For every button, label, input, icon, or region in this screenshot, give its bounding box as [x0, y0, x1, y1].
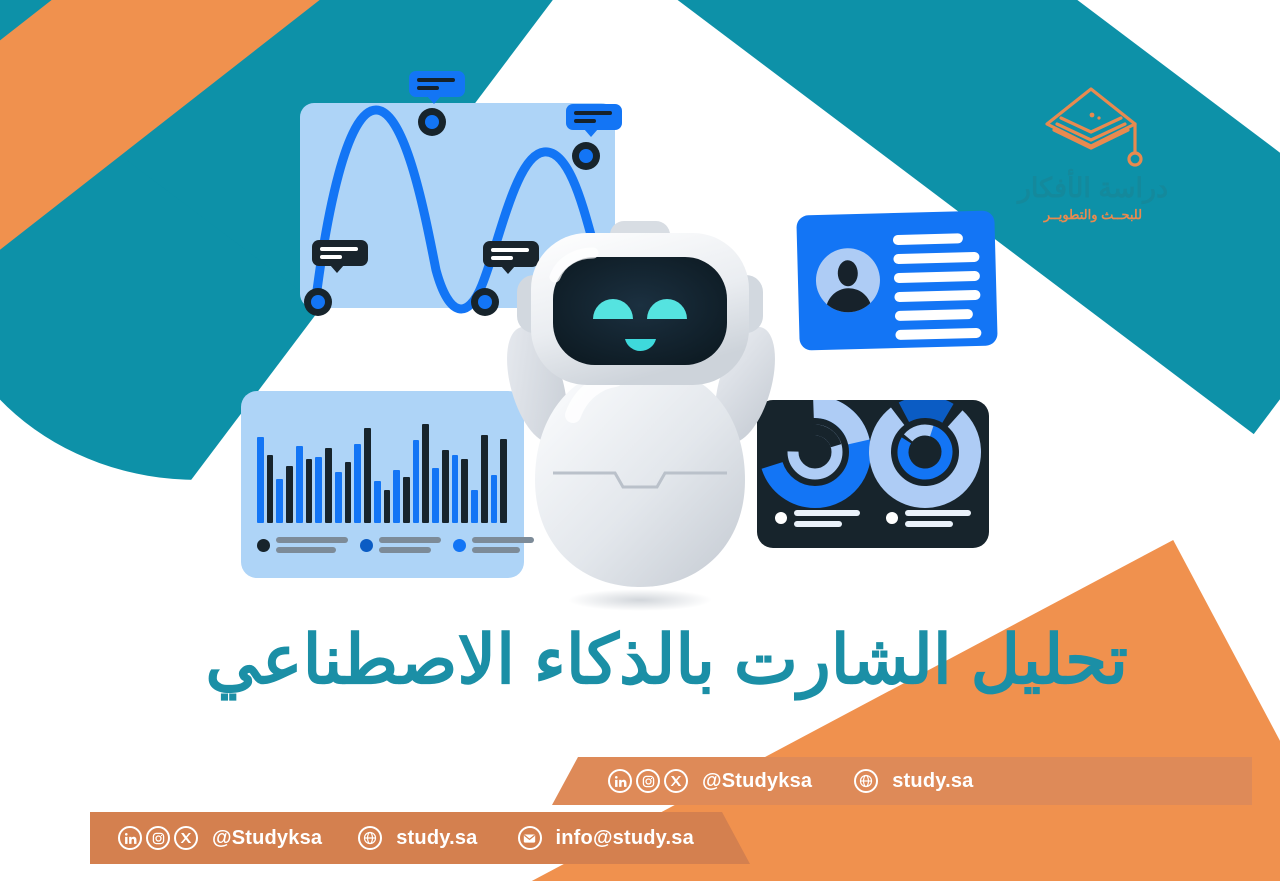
bar	[393, 470, 400, 523]
bar	[286, 466, 293, 523]
social-handle: @Studyksa	[702, 770, 812, 793]
footer-bar-bottom: @Studyksa study.sa info@study.sa	[90, 812, 750, 864]
bar	[345, 462, 352, 523]
bar	[325, 448, 332, 523]
donut-chart-legend	[775, 510, 975, 532]
bar	[267, 455, 274, 523]
instagram-icon[interactable]	[636, 769, 660, 793]
bar	[315, 457, 322, 523]
legend-item	[257, 537, 348, 557]
legend-item	[775, 510, 860, 532]
legend-item	[886, 510, 971, 532]
chart-tooltip	[409, 71, 465, 97]
bar	[384, 490, 391, 523]
bar	[364, 428, 371, 523]
email-address: info@study.sa	[556, 827, 694, 850]
social-handle-group[interactable]: @Studyksa	[608, 769, 812, 793]
chart-tooltip	[566, 104, 622, 130]
bar	[257, 437, 264, 523]
bar	[422, 424, 429, 523]
instagram-icon[interactable]	[146, 826, 170, 850]
email-group[interactable]: info@study.sa	[518, 826, 694, 850]
logo-tagline: للبحــث والتطويــر	[998, 207, 1188, 223]
bar	[461, 459, 468, 523]
website-group[interactable]: study.sa	[358, 826, 477, 850]
bar	[354, 444, 361, 523]
website-url: study.sa	[396, 827, 477, 850]
bar	[432, 468, 439, 523]
brand-logo: دراسة الأفكار للبحــث والتطويــر	[998, 84, 1188, 223]
social-handle: @Studyksa	[212, 827, 322, 850]
page-title: تحليل الشارت بالذكاء الاصطناعي	[138, 626, 1128, 695]
envelope-icon[interactable]	[518, 826, 542, 850]
bar	[403, 477, 410, 523]
bar	[481, 435, 488, 523]
bar	[276, 479, 283, 523]
bar	[335, 472, 342, 523]
avatar	[815, 247, 881, 313]
poster-canvas: دراسة الأفكار للبحــث والتطويــر	[0, 0, 1280, 881]
graduation-cap-icon	[1035, 84, 1151, 170]
robot-shadow	[568, 589, 712, 611]
donut-charts-graphic	[757, 400, 989, 510]
bar	[471, 490, 478, 523]
bar-chart-bars	[257, 413, 507, 523]
bar	[306, 459, 313, 523]
website-url: study.sa	[892, 770, 973, 793]
bar	[296, 446, 303, 523]
linkedin-icon[interactable]	[118, 826, 142, 850]
website-group[interactable]: study.sa	[854, 769, 973, 793]
x-icon[interactable]	[664, 769, 688, 793]
robot-mascot	[495, 215, 785, 615]
bar	[442, 450, 449, 523]
globe-icon[interactable]	[854, 769, 878, 793]
bar	[452, 455, 459, 523]
social-handle-group[interactable]: @Studyksa	[118, 826, 322, 850]
id-card-text-lines	[893, 233, 982, 349]
id-card-illustration	[796, 210, 997, 350]
legend-item	[360, 537, 441, 557]
footer-bar-top: @Studyksa study.sa	[552, 757, 1252, 805]
bar	[413, 440, 420, 523]
bar-chart-legend	[257, 537, 512, 557]
bar-chart-card	[241, 391, 524, 578]
globe-icon[interactable]	[358, 826, 382, 850]
chart-tooltip	[312, 240, 368, 266]
x-icon[interactable]	[174, 826, 198, 850]
robot-body	[535, 365, 745, 587]
linkedin-icon[interactable]	[608, 769, 632, 793]
bar	[374, 481, 381, 523]
donut-chart-card	[757, 400, 989, 548]
logo-name: دراسة الأفكار	[998, 174, 1188, 204]
